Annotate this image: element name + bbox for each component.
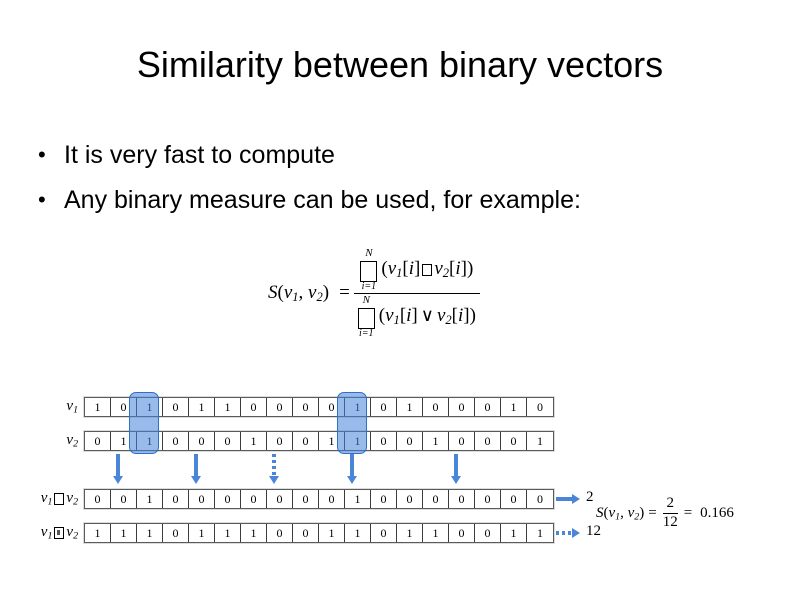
bit-cell: 0 [189,490,215,508]
arrow-shaft [454,454,458,478]
result-arrow-or [556,528,580,538]
bit-cell: 0 [215,432,241,450]
bullet-text: It is very fast to compute [64,140,738,171]
vector-row-v2: v2 011000100110010001 [30,430,554,452]
numerator-expression: (v1[i]v2[i]) [381,258,473,281]
bit-cell: 1 [111,432,137,450]
down-arrow-icon [451,454,461,486]
bit-cell: 0 [449,524,475,542]
computed-fraction: 2 12 [661,496,680,531]
bit-cell: 1 [345,398,371,416]
arrow-head-icon [269,476,279,484]
down-arrow-icon [347,454,357,486]
sum-upper-limit: N [365,248,372,259]
bit-cell: 1 [423,524,449,542]
bit-cell: 0 [527,398,553,416]
bit-cell: 0 [163,490,189,508]
vector-row-and: v1v2 001000000010000000 [12,488,554,510]
bit-cell: 0 [319,398,345,416]
vector-row-v1: v1 101011000010100010 [30,396,554,418]
formula-equals: = [335,282,354,304]
bit-cell: 0 [111,398,137,416]
vector-row-or: v1v2 111011100110110011 [12,522,554,544]
bit-cell: 1 [319,524,345,542]
summation-missing-glyph-icon [360,259,377,282]
bit-cell: 0 [215,490,241,508]
arrow-shaft [556,497,572,501]
bit-cell: 1 [345,490,371,508]
similarity-formula: S(v1, v2) = N i=1 (v1[i]v2[i]) N i=1 [268,248,480,339]
bit-cell: 0 [241,398,267,416]
bit-cell: 0 [111,490,137,508]
bit-cell: 0 [527,490,553,508]
or-operator-icon: ∨ [418,305,437,325]
down-arrow-icon [269,454,279,486]
bit-cell: 1 [189,398,215,416]
bit-cell: 0 [449,398,475,416]
vector-label-and: v1v2 [12,490,84,507]
bit-cell: 0 [371,524,397,542]
formula-lhs: S(v1, v2) [268,282,335,305]
bit-cell: 1 [137,490,163,508]
fraction-bar [354,293,480,294]
result-value-and: 2 [586,489,594,506]
list-item: • It is very fast to compute [38,140,738,171]
or-operator-missing-glyph-icon [54,527,64,539]
bit-cell: 0 [371,490,397,508]
bit-cell: 0 [371,398,397,416]
formula-lhs-S: S [268,282,278,303]
bit-cell: 0 [475,524,501,542]
and-operator-missing-glyph-icon [54,493,64,505]
result-arrow-and [556,494,580,504]
bit-cell: 1 [345,524,371,542]
formula-fraction: N i=1 (v1[i]v2[i]) N i=1 (v1[i]∨v2[i]) [354,248,480,339]
bit-cell: 1 [137,432,163,450]
bit-cell: 1 [215,398,241,416]
bit-cell: 0 [423,490,449,508]
bit-cell: 0 [267,524,293,542]
bullet-dot-icon: • [38,185,64,215]
bit-cell: 0 [501,490,527,508]
vector-label-or: v1v2 [12,524,84,541]
arrow-shaft [116,454,120,478]
bit-cell: 1 [111,524,137,542]
bit-cell: 0 [475,398,501,416]
sum-lower-limit: i=1 [359,329,374,339]
computed-denominator: 12 [663,515,678,531]
vector-label-v1: v1 [30,398,84,415]
bit-cell: 1 [319,432,345,450]
bit-cell: 0 [371,432,397,450]
bit-cell: 1 [527,432,553,450]
list-item: • Any binary measure can be used, for ex… [38,185,738,216]
bit-cell: 0 [475,490,501,508]
sum-upper-limit: N [363,295,370,306]
formula-numerator: N i=1 (v1[i]v2[i]) [356,248,477,292]
computed-equals: = [644,505,660,522]
bullet-dot-icon: • [38,140,64,170]
arrow-head-icon [451,476,461,484]
bit-cell: 1 [397,398,423,416]
bit-cell: 0 [319,490,345,508]
bit-cell: 0 [163,524,189,542]
computed-similarity-formula: S(v1, v2) = 2 12 = 0.166 [596,496,734,531]
bit-cell: 0 [163,398,189,416]
bit-cell: 1 [397,524,423,542]
bit-cell: 0 [501,432,527,450]
bit-cell: 0 [293,490,319,508]
page-title: Similarity between binary vectors [0,44,800,86]
vector-label-v2: v2 [30,432,84,449]
bit-cell: 1 [241,432,267,450]
computed-lhs: S(v1, v2) [596,505,644,522]
bit-cell: 0 [423,398,449,416]
bit-cell: 0 [163,432,189,450]
computed-result: 0.166 [696,505,734,522]
bit-cell: 0 [449,432,475,450]
slide-canvas: Similarity between binary vectors • It i… [0,0,800,599]
bullet-list: • It is very fast to compute • Any binar… [38,140,738,231]
computed-numerator: 2 [666,496,674,512]
arrow-shaft [556,531,572,535]
summation-missing-glyph-icon [358,306,375,329]
bit-cell: 0 [267,490,293,508]
arrow-head-icon [113,476,123,484]
arrow-shaft [194,454,198,478]
bit-cell: 1 [189,524,215,542]
vector-cells-and: 001000000010000000 [84,489,554,509]
bit-cell: 0 [397,490,423,508]
arrow-shaft [350,454,354,478]
bit-cell: 0 [85,432,111,450]
sum-lower-limit: i=1 [362,282,377,292]
formula-denominator: N i=1 (v1[i]∨v2[i]) [354,295,480,339]
bit-cell: 0 [293,524,319,542]
bit-cell: 1 [137,398,163,416]
down-arrow-icon [191,454,201,486]
bit-cell: 1 [423,432,449,450]
vector-cells-v2: 011000100110010001 [84,431,554,451]
vector-cells-or: 111011100110110011 [84,523,554,543]
bit-cell: 1 [137,524,163,542]
arrow-head-icon [572,494,580,504]
bit-cell: 1 [85,524,111,542]
bit-cell: 0 [241,490,267,508]
bit-cell: 0 [293,398,319,416]
bit-cell: 0 [293,432,319,450]
bit-cell: 1 [527,524,553,542]
bit-cell: 1 [85,398,111,416]
bit-cell: 0 [189,432,215,450]
arrow-shaft [272,454,276,478]
and-operator-missing-glyph-icon [422,264,432,276]
computed-equals-2: = [680,505,696,522]
arrow-head-icon [347,476,357,484]
bullet-text: Any binary measure can be used, for exam… [64,185,738,216]
bit-cell: 0 [475,432,501,450]
summation-group: N i=1 [358,295,375,339]
bit-cell: 1 [345,432,371,450]
down-arrow-icon [113,454,123,486]
vector-cells-v1: 101011000010100010 [84,397,554,417]
bit-cell: 0 [267,398,293,416]
arrow-head-icon [572,528,580,538]
bit-cell: 1 [501,524,527,542]
bit-cell: 0 [267,432,293,450]
bit-cell: 1 [501,398,527,416]
arrow-head-icon [191,476,201,484]
bit-cell: 0 [397,432,423,450]
bit-cell: 1 [241,524,267,542]
summation-group: N i=1 [360,248,377,292]
denominator-expression: (v1[i]∨v2[i]) [379,305,476,328]
bit-cell: 1 [215,524,241,542]
bit-cell: 0 [85,490,111,508]
vector-diagram: v1 101011000010100010 v2 011000100110010… [0,384,800,564]
bit-cell: 0 [449,490,475,508]
